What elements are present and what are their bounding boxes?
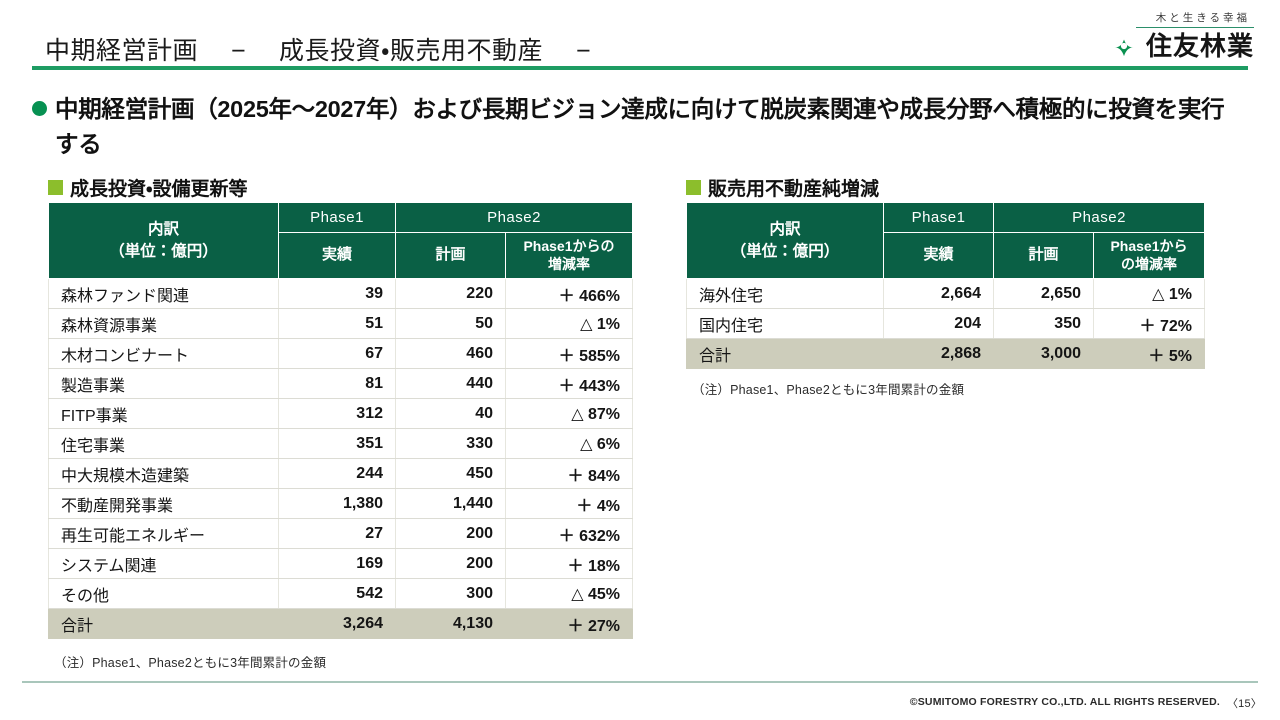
table-row: 森林ファンド関連 39 220 ＋ 466% (49, 279, 633, 309)
cell-change: ＋ 72% (1094, 309, 1205, 339)
cell-plan: 200 (396, 519, 506, 549)
table-body-real-estate: 海外住宅 2,664 2,650 △ 1% 国内住宅 204 350 ＋ 72%… (687, 279, 1205, 369)
page-number: 〈15〉 (1227, 695, 1262, 711)
cell-plan: 330 (396, 429, 506, 459)
table-row: 国内住宅 204 350 ＋ 72% (687, 309, 1205, 339)
cell-label: 木材コンビナート (49, 339, 279, 369)
table-header-row-top: 内訳 （単位：億円） Phase1 Phase2 (687, 203, 1205, 233)
table-row: システム関連 169 200 ＋ 18% (49, 549, 633, 579)
logo-tagline-divider (1136, 27, 1254, 28)
cell-change: △ 6% (506, 429, 633, 459)
cell-actual: 39 (279, 279, 396, 309)
th-plan: 計画 (396, 233, 506, 279)
th-breakdown-title: 内訳 (687, 219, 883, 241)
cell-label: 中大規模木造建築 (49, 459, 279, 489)
th-change-rate-line1: Phase1からの (506, 238, 632, 256)
cell-total-plan: 3,000 (994, 339, 1094, 369)
table-total-row: 合計 3,264 4,130 ＋ 27% (49, 609, 633, 639)
cell-plan: 300 (396, 579, 506, 609)
cell-change: △ 87% (506, 399, 633, 429)
cell-label: 製造事業 (49, 369, 279, 399)
table-row: 不動産開発事業 1,380 1,440 ＋ 4% (49, 489, 633, 519)
cell-change: △ 1% (506, 309, 633, 339)
cell-plan: 1,440 (396, 489, 506, 519)
th-change-rate-line2: の増減率 (1094, 256, 1204, 274)
logo-company-name: 住友林業 (1146, 33, 1254, 59)
cell-actual: 2,664 (884, 279, 994, 309)
th-breakdown-title: 内訳 (49, 219, 278, 241)
th-phase1: Phase1 (279, 203, 396, 233)
cell-label: 国内住宅 (687, 309, 884, 339)
cell-plan: 460 (396, 339, 506, 369)
section-header-real-estate: 販売用不動産純増減 (686, 174, 879, 201)
table-row: 木材コンビナート 67 460 ＋ 585% (49, 339, 633, 369)
cell-change: ＋ 18% (506, 549, 633, 579)
section-header-growth-investment: 成長投資・設備更新等 (48, 174, 247, 201)
cell-label: FITP事業 (49, 399, 279, 429)
cell-actual: 81 (279, 369, 396, 399)
cell-label: その他 (49, 579, 279, 609)
slide: 中期経営計画 − 成長投資・販売用不動産 − 木と生きる幸福 住友林業 中期経営… (0, 0, 1280, 720)
cell-actual: 67 (279, 339, 396, 369)
table-row: 住宅事業 351 330 △ 6% (49, 429, 633, 459)
cell-total-plan: 4,130 (396, 609, 506, 639)
cell-label: 森林ファンド関連 (49, 279, 279, 309)
title-divider (32, 66, 1248, 70)
copyright-text: ©SUMITOMO FORESTRY CO.,LTD. ALL RIGHTS R… (910, 696, 1220, 708)
th-change-rate: Phase1から の増減率 (1094, 233, 1205, 279)
cell-change: ＋ 632% (506, 519, 633, 549)
logo-tagline: 木と生きる幸福 (1078, 10, 1254, 25)
table-head: 内訳 （単位：億円） Phase1 Phase2 実績 計画 Phase1からの… (49, 203, 633, 279)
page-title: 中期経営計画 − 成長投資・販売用不動産 − (45, 31, 591, 67)
th-actual: 実績 (884, 233, 994, 279)
cell-label: 不動産開発事業 (49, 489, 279, 519)
cell-label: システム関連 (49, 549, 279, 579)
cell-actual: 204 (884, 309, 994, 339)
logo-main: 住友林業 (1078, 33, 1254, 59)
table-real-estate: 内訳 （単位：億円） Phase1 Phase2 実績 計画 Phase1から … (686, 202, 1205, 369)
table-row: FITP事業 312 40 △ 87% (49, 399, 633, 429)
cell-actual: 169 (279, 549, 396, 579)
note-real-estate: （注）Phase1、Phase2ともに3年間累計の金額 (692, 379, 964, 398)
section-label-growth-investment: 成長投資・設備更新等 (70, 174, 247, 201)
cell-actual: 1,380 (279, 489, 396, 519)
cell-plan: 350 (994, 309, 1094, 339)
cell-change: ＋ 585% (506, 339, 633, 369)
cell-total-actual: 2,868 (884, 339, 994, 369)
cell-change: ＋ 466% (506, 279, 633, 309)
square-marker-icon (48, 180, 63, 195)
th-phase1: Phase1 (884, 203, 994, 233)
table-growth-investment: 内訳 （単位：億円） Phase1 Phase2 実績 計画 Phase1からの… (48, 202, 633, 639)
cell-total-actual: 3,264 (279, 609, 396, 639)
th-breakdown: 内訳 （単位：億円） (687, 203, 884, 279)
cell-total-change: ＋ 27% (506, 609, 633, 639)
note-growth-investment: （注）Phase1、Phase2ともに3年間累計の金額 (54, 652, 326, 671)
cell-plan: 220 (396, 279, 506, 309)
cell-label: 再生可能エネルギー (49, 519, 279, 549)
section-label-real-estate: 販売用不動産純増減 (708, 174, 879, 201)
th-breakdown-unit: （単位：億円） (687, 241, 883, 263)
table-row: その他 542 300 △ 45% (49, 579, 633, 609)
table-body-growth-investment: 森林ファンド関連 39 220 ＋ 466% 森林資源事業 51 50 △ 1%… (49, 279, 633, 639)
cell-label: 住宅事業 (49, 429, 279, 459)
cell-actual: 51 (279, 309, 396, 339)
table-total-row: 合計 2,868 3,000 ＋ 5% (687, 339, 1205, 369)
cell-label: 海外住宅 (687, 279, 884, 309)
cell-plan: 50 (396, 309, 506, 339)
table-row: 森林資源事業 51 50 △ 1% (49, 309, 633, 339)
th-breakdown-unit: （単位：億円） (49, 241, 278, 263)
cell-plan: 40 (396, 399, 506, 429)
company-logo: 木と生きる幸福 住友林業 (1078, 10, 1254, 59)
table-row: 再生可能エネルギー 27 200 ＋ 632% (49, 519, 633, 549)
cell-actual: 244 (279, 459, 396, 489)
th-phase2: Phase2 (396, 203, 633, 233)
cell-actual: 27 (279, 519, 396, 549)
cell-change: ＋ 4% (506, 489, 633, 519)
th-phase2: Phase2 (994, 203, 1205, 233)
cell-change: ＋ 443% (506, 369, 633, 399)
table-row: 製造事業 81 440 ＋ 443% (49, 369, 633, 399)
cell-change: △ 1% (1094, 279, 1205, 309)
th-plan: 計画 (994, 233, 1094, 279)
cell-plan: 440 (396, 369, 506, 399)
footer-divider (22, 681, 1258, 683)
table-row: 中大規模木造建築 244 450 ＋ 84% (49, 459, 633, 489)
th-change-rate-line1: Phase1から (1094, 238, 1204, 256)
cell-total-change: ＋ 5% (1094, 339, 1205, 369)
bullet-circle-icon (32, 101, 47, 116)
table-head: 内訳 （単位：億円） Phase1 Phase2 実績 計画 Phase1から … (687, 203, 1205, 279)
th-change-rate-line2: 増減率 (506, 256, 632, 274)
square-marker-icon (686, 180, 701, 195)
th-breakdown: 内訳 （単位：億円） (49, 203, 279, 279)
cell-total-label: 合計 (49, 609, 279, 639)
cell-actual: 542 (279, 579, 396, 609)
cell-change: ＋ 84% (506, 459, 633, 489)
cell-plan: 200 (396, 549, 506, 579)
headline-text: 中期経営計画（2025年〜2027年）および長期ビジョン達成に向けて脱炭素関連や… (55, 92, 1232, 162)
cell-actual: 312 (279, 399, 396, 429)
sumitomo-diamond-icon (1110, 34, 1138, 58)
table-header-row-top: 内訳 （単位：億円） Phase1 Phase2 (49, 203, 633, 233)
cell-actual: 351 (279, 429, 396, 459)
cell-total-label: 合計 (687, 339, 884, 369)
cell-label: 森林資源事業 (49, 309, 279, 339)
th-actual: 実績 (279, 233, 396, 279)
cell-change: △ 45% (506, 579, 633, 609)
table-row: 海外住宅 2,664 2,650 △ 1% (687, 279, 1205, 309)
cell-plan: 2,650 (994, 279, 1094, 309)
headline: 中期経営計画（2025年〜2027年）および長期ビジョン達成に向けて脱炭素関連や… (32, 92, 1232, 162)
th-change-rate: Phase1からの 増減率 (506, 233, 633, 279)
cell-plan: 450 (396, 459, 506, 489)
